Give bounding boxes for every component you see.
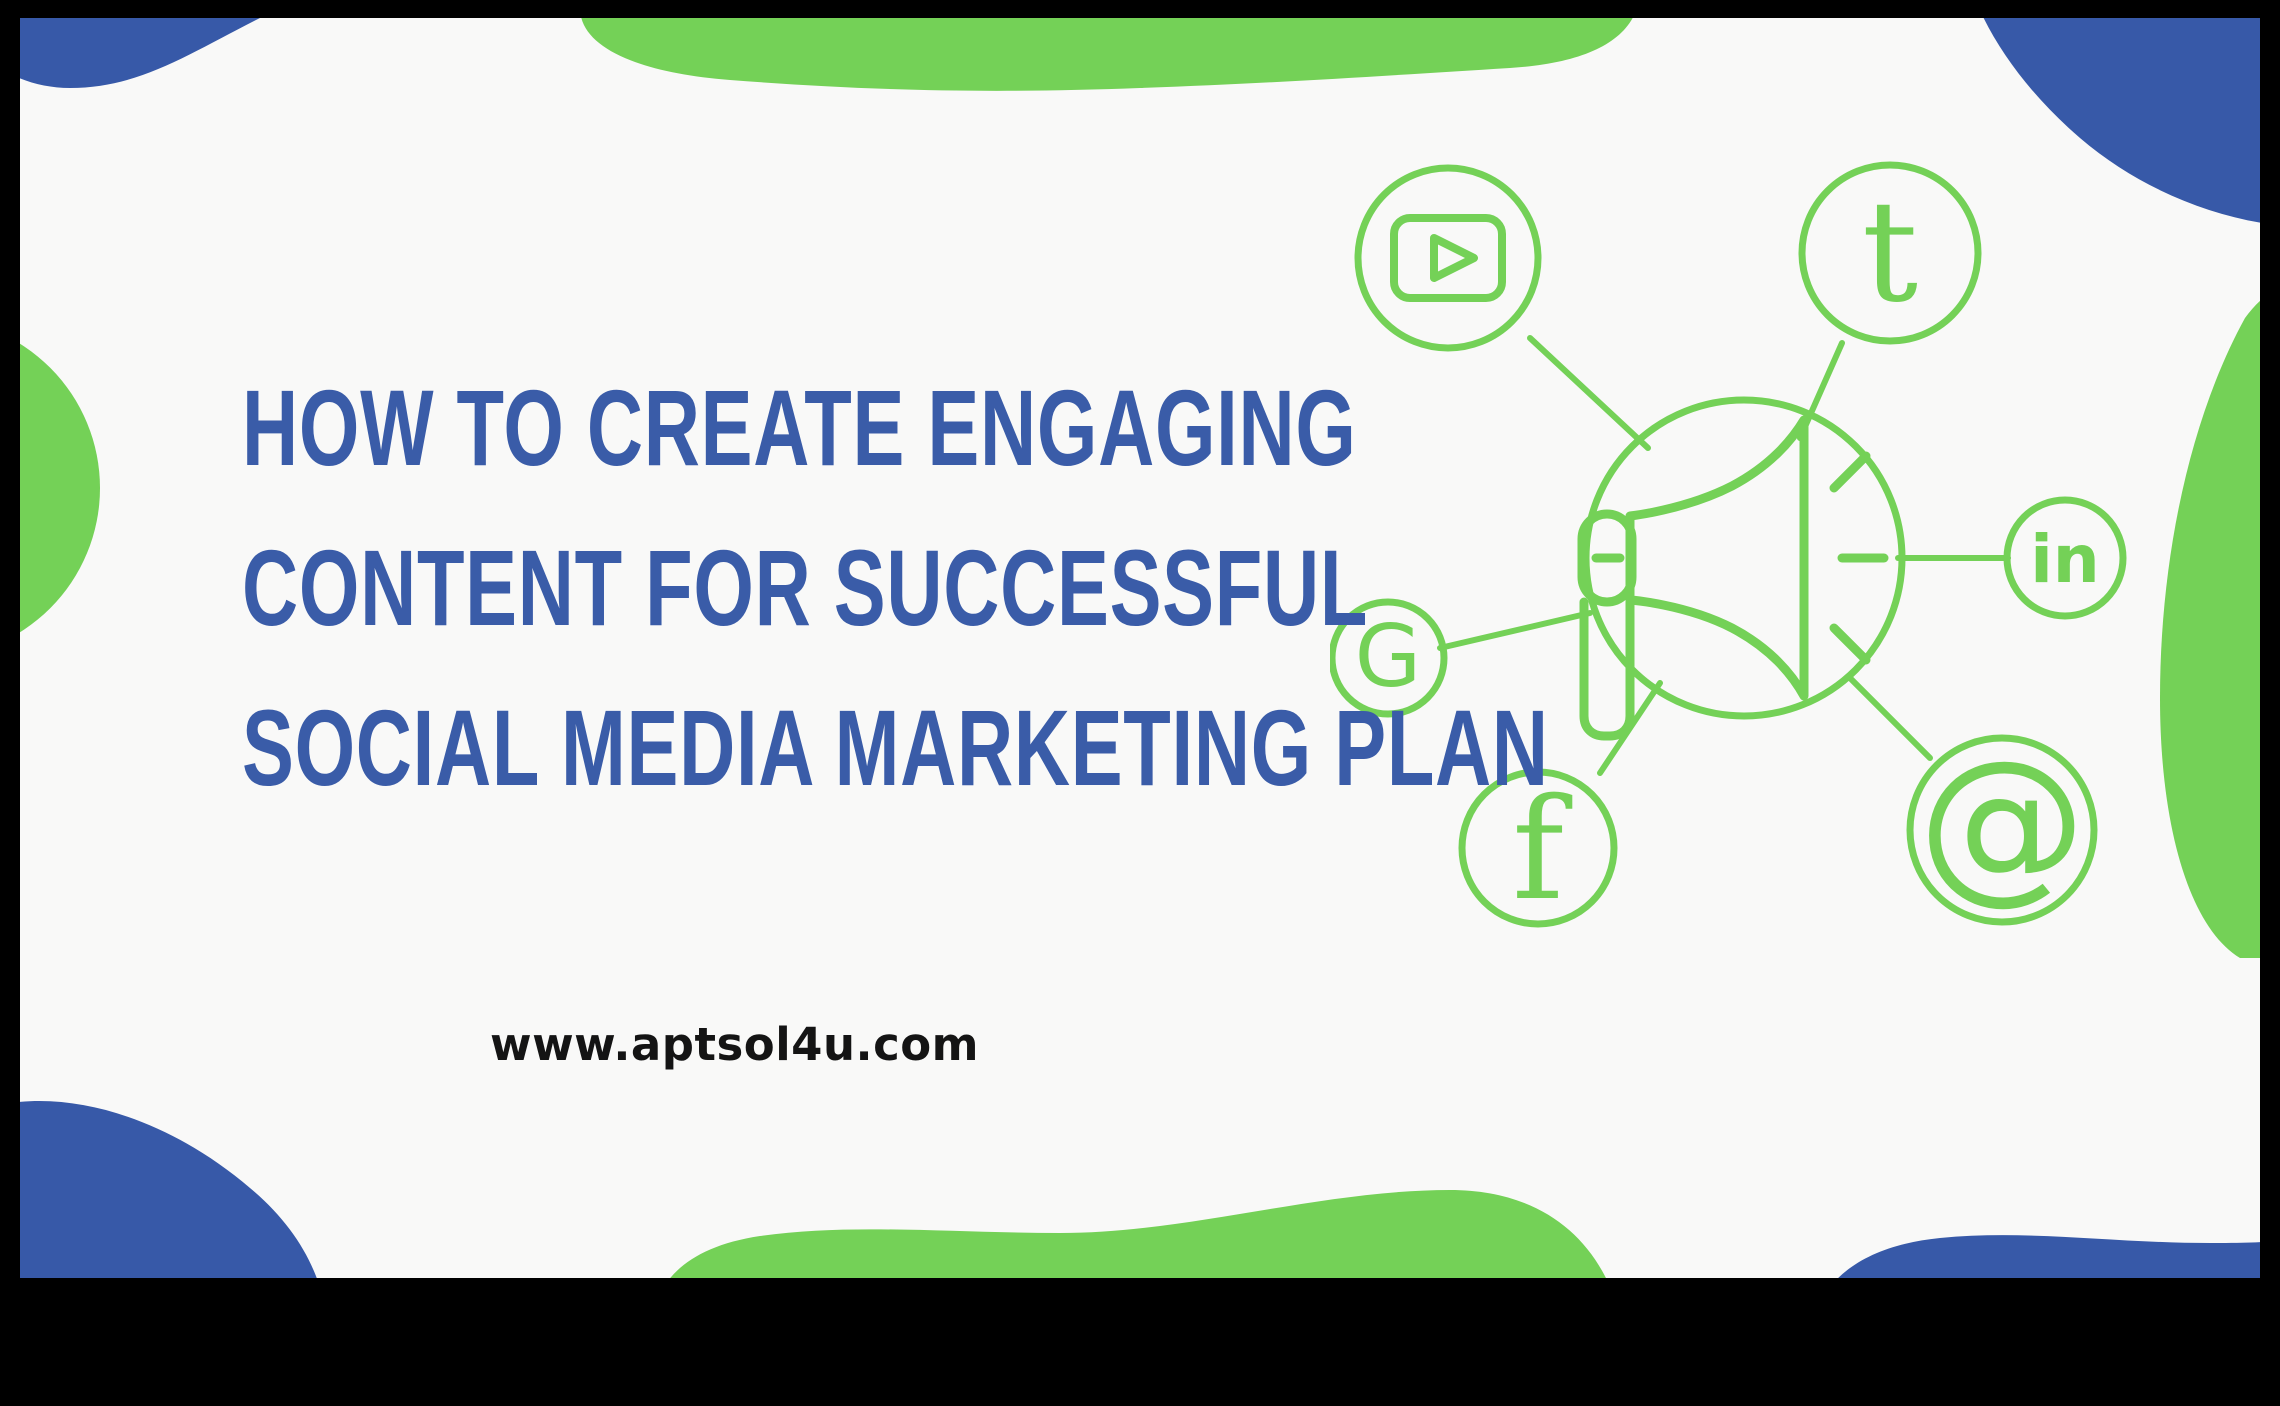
- bottom-right-blue-blob: [1700, 1138, 2260, 1278]
- slide-letterbox-frame: HOW TO CREATE ENGAGING CONTENT FOR SUCCE…: [0, 0, 2280, 1406]
- youtube-circle: [1358, 168, 1538, 348]
- connector-youtube: [1530, 338, 1648, 448]
- connector-google: [1440, 613, 1590, 648]
- node-twitter[interactable]: t: [1802, 165, 1978, 341]
- twitter-t-glyph: t: [1862, 171, 1918, 334]
- email-at-glyph: @: [1918, 724, 2086, 920]
- title-line-2: CONTENT FOR SUCCESSFUL: [242, 508, 1178, 668]
- top-center-green-blob: [580, 18, 1640, 158]
- youtube-play-icon: [1394, 218, 1502, 298]
- slide-canvas: HOW TO CREATE ENGAGING CONTENT FOR SUCCE…: [20, 18, 2260, 1278]
- node-linkedin[interactable]: in: [2007, 500, 2123, 616]
- page-title: HOW TO CREATE ENGAGING CONTENT FOR SUCCE…: [60, 348, 1360, 828]
- linkedin-in-glyph: in: [2030, 521, 2100, 598]
- node-youtube[interactable]: [1358, 168, 1538, 348]
- right-green-blob: [2150, 268, 2260, 958]
- top-left-blue-blob: [20, 18, 380, 198]
- title-line-3: SOCIAL MEDIA MARKETING PLAN: [242, 668, 1178, 828]
- social-media-network-illustration: t in @ f: [1330, 158, 2150, 948]
- website-url: www.aptsol4u.com: [490, 1018, 979, 1071]
- bottom-center-green-blob: [590, 1138, 1640, 1278]
- bottom-left-blue-blob: [20, 1078, 330, 1278]
- title-line-1: HOW TO CREATE ENGAGING: [242, 348, 1178, 508]
- node-email[interactable]: @: [1910, 724, 2094, 922]
